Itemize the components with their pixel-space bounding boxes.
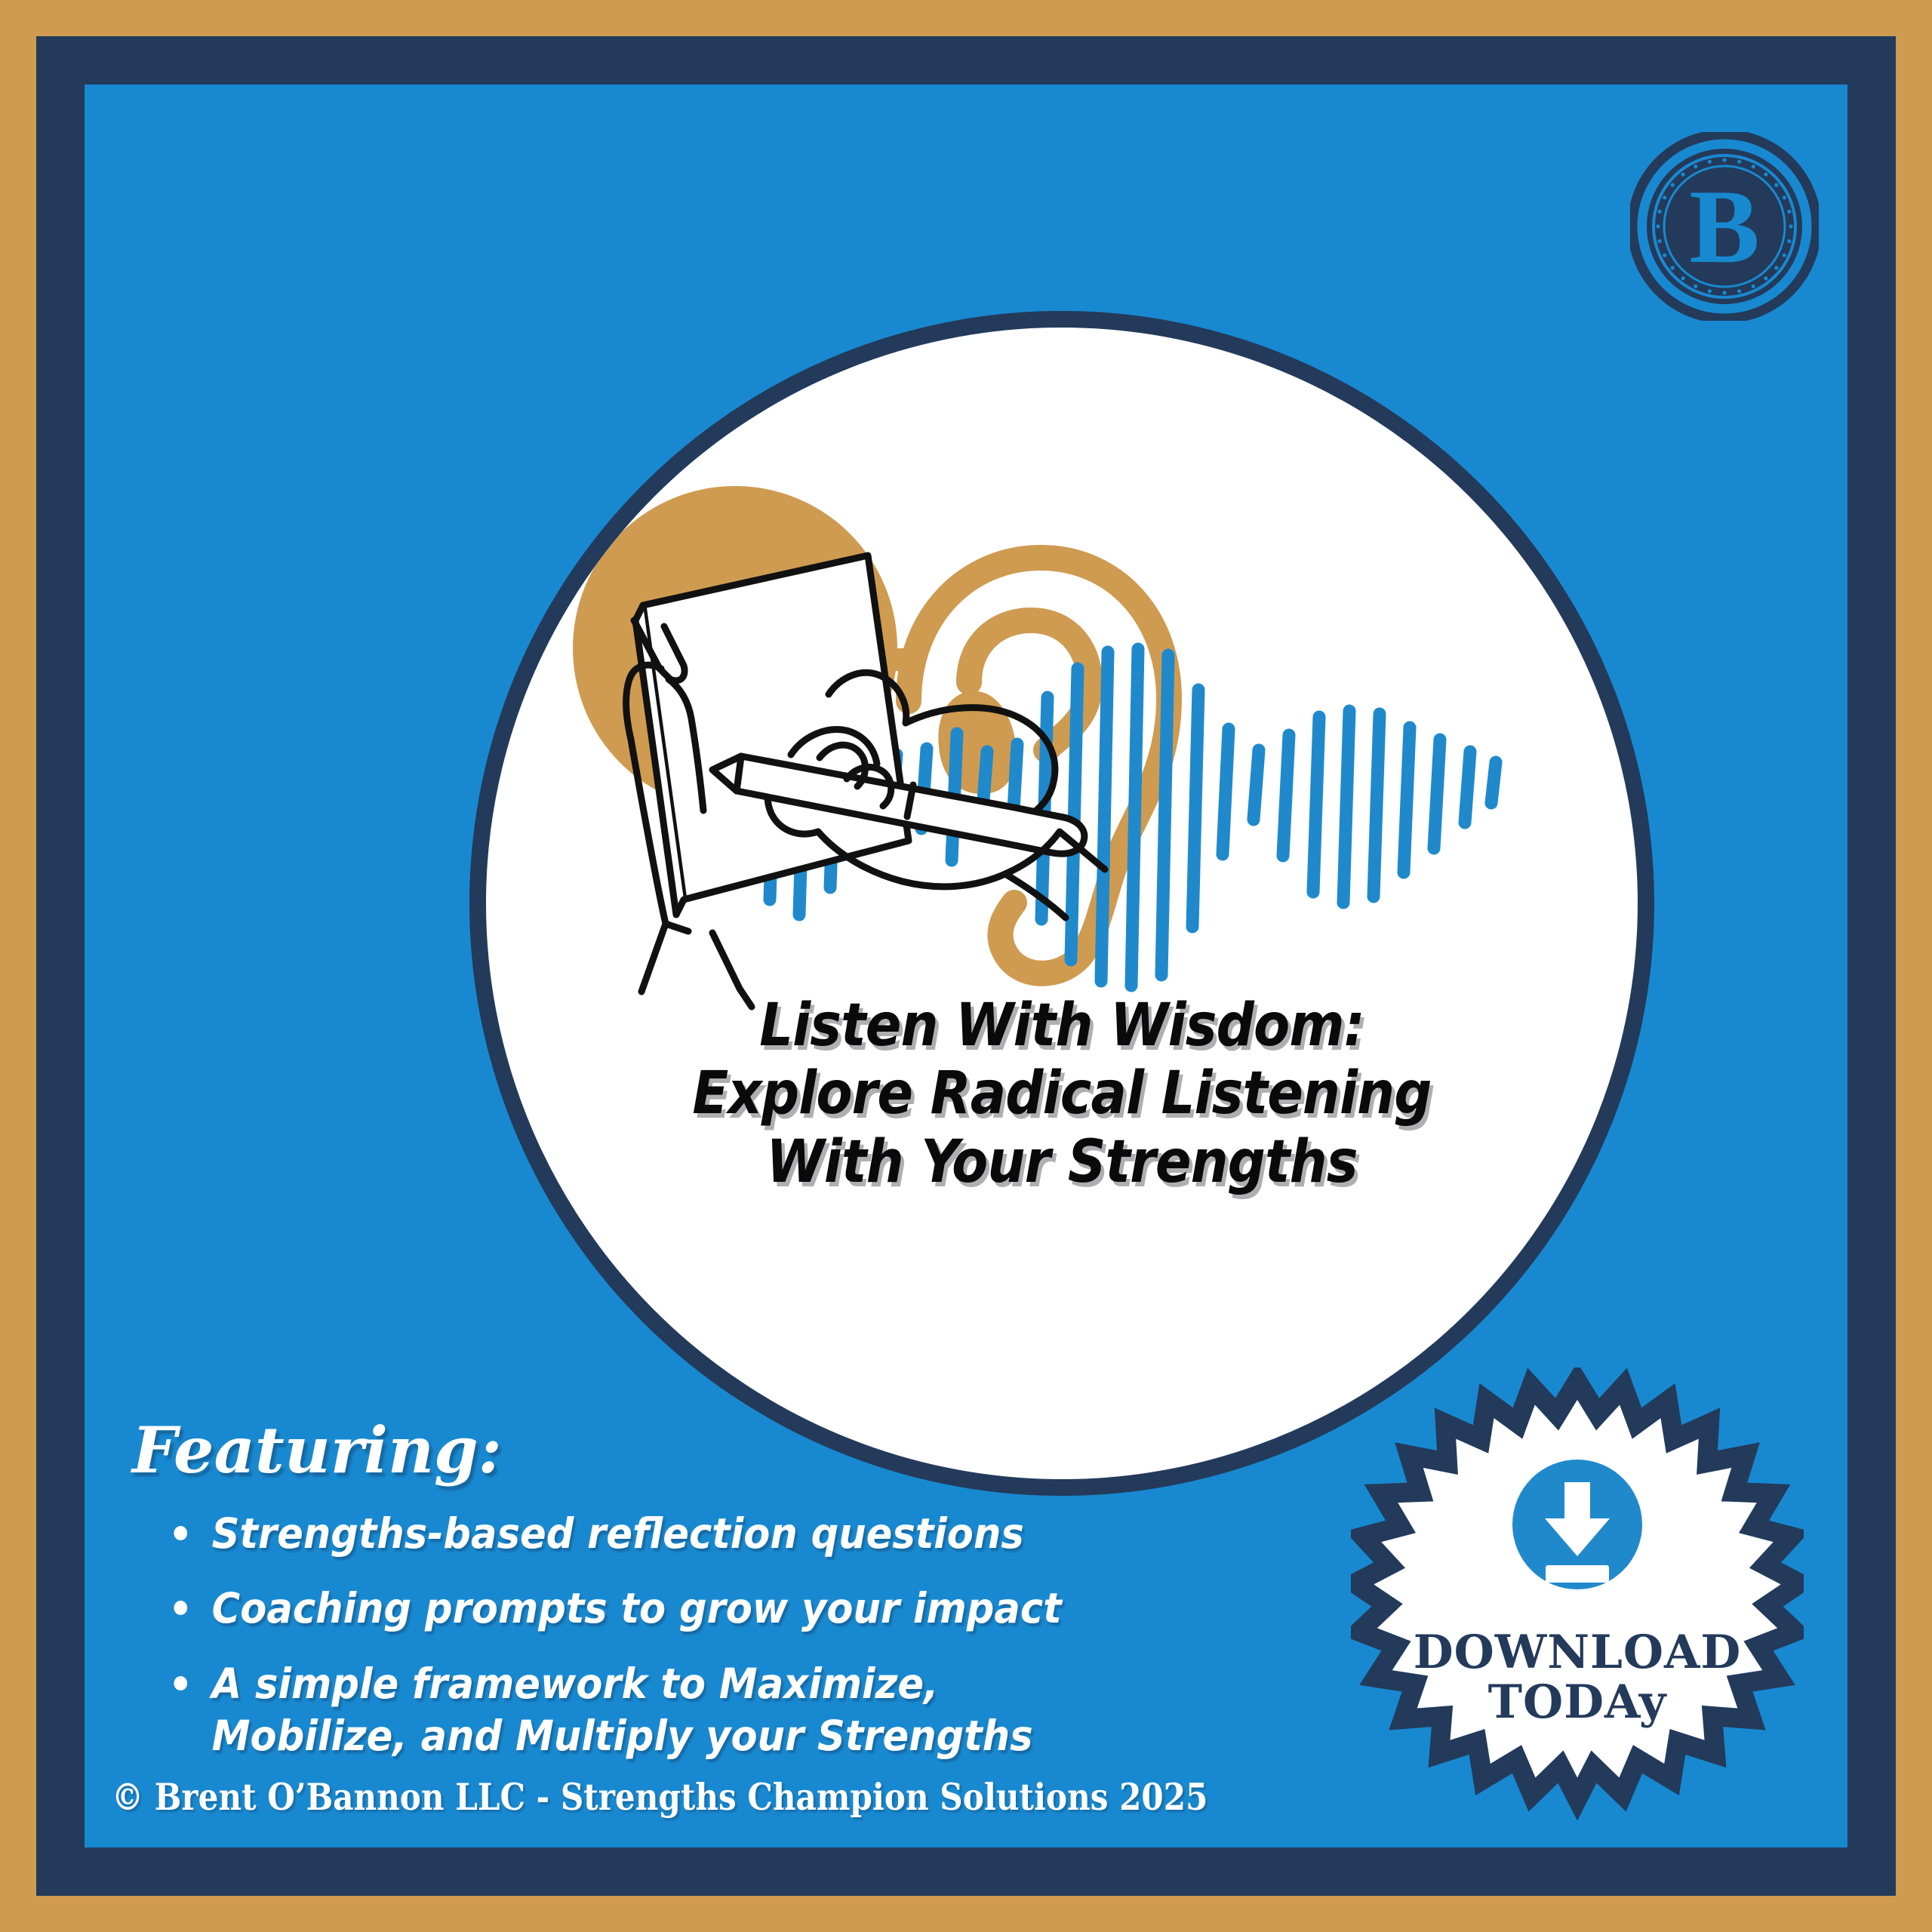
logo-icon: B (1630, 132, 1819, 321)
starburst-icon (1355, 1381, 1800, 1799)
list-item: A simple framework to Maximize, Mobilize… (168, 1658, 1131, 1763)
list-item: Coaching prompts to grow your impact (168, 1583, 1131, 1635)
badge-line-1: DOWNLOAD (1351, 1628, 1804, 1678)
list-item-label: Coaching prompts to grow your impact (212, 1584, 1062, 1632)
featuring-heading: Featuring: (132, 1419, 1204, 1482)
poster-root: B (0, 0, 1932, 1932)
bullet-icon (174, 1526, 187, 1540)
brand-logo-badge[interactable]: B (1630, 132, 1819, 321)
hero-circle: Listen With Wisdom: Explore Radical List… (469, 311, 1654, 1496)
hero-illustration (486, 328, 1654, 1496)
svg-text:B: B (1689, 168, 1759, 285)
bullet-icon (174, 1676, 187, 1690)
page-title: Listen With Wisdom: Explore Radical List… (543, 992, 1580, 1196)
badge-label: DOWNLOAD TODAy (1351, 1628, 1804, 1727)
starburst-shape (1351, 1367, 1804, 1820)
download-today-badge[interactable]: DOWNLOAD TODAy (1351, 1367, 1804, 1820)
headline-line-1: Listen With Wisdom: (598, 992, 1525, 1060)
featuring-block: Featuring: Strengths-based reflection qu… (132, 1419, 1204, 1785)
headline-line-3: With Your Strengths (598, 1128, 1525, 1196)
list-item-label: A simple framework to Maximize, Mobilize… (212, 1660, 1033, 1760)
featuring-list: Strengths-based reflection questions Coa… (132, 1508, 1204, 1762)
list-item-label: Strengths-based reflection questions (212, 1509, 1024, 1558)
banner-text-row-2: Infographic! (0, 0, 1180, 171)
headline-line-2: Explore Radical Listening (598, 1060, 1525, 1128)
badge-line-2: TODAy (1351, 1678, 1804, 1727)
list-item: Strengths-based reflection questions (168, 1508, 1131, 1560)
bullet-icon (174, 1601, 187, 1615)
copyright-notice: © Brent O’Bannon LLC - Strengths Champio… (112, 1775, 1085, 1819)
